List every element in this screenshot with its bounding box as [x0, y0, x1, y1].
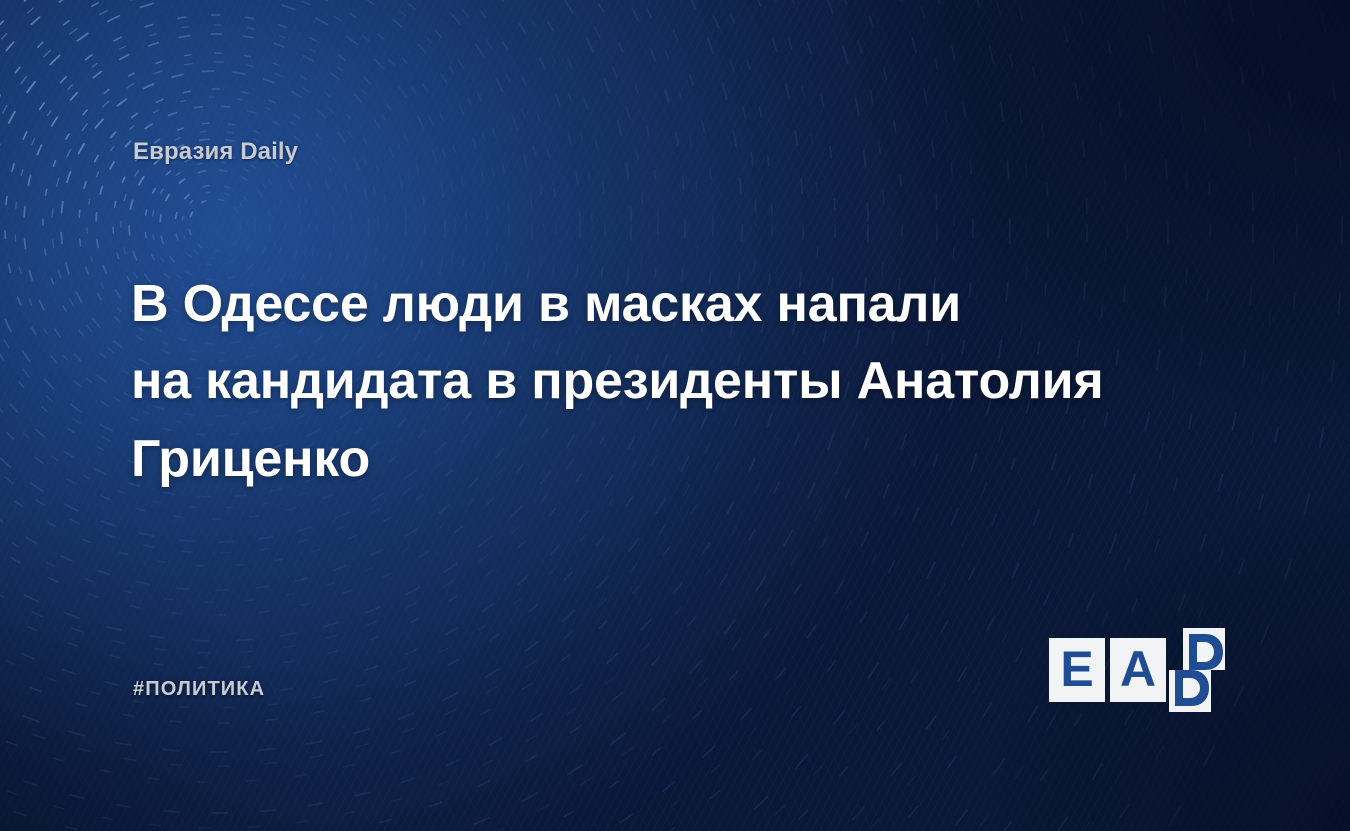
headline: В Одессе люди в масках напали на кандида…	[131, 266, 1201, 498]
headline-line-3: Гриценко	[131, 421, 1201, 498]
svg-text:A: A	[1120, 641, 1156, 697]
category-tag[interactable]: #ПОЛИТИКА	[133, 678, 265, 701]
headline-line-2: на кандидата в президенты Анатолия	[131, 343, 1201, 420]
news-card: Евразия Daily В Одессе люди в масках нап…	[0, 0, 1350, 831]
svg-text:E: E	[1060, 641, 1093, 697]
brand-label: Евразия Daily	[133, 138, 298, 166]
card-content: Евразия Daily В Одессе люди в масках нап…	[0, 0, 1350, 831]
headline-line-1: В Одессе люди в масках напали	[131, 266, 1201, 343]
ead-logo: E A	[1049, 628, 1225, 712]
